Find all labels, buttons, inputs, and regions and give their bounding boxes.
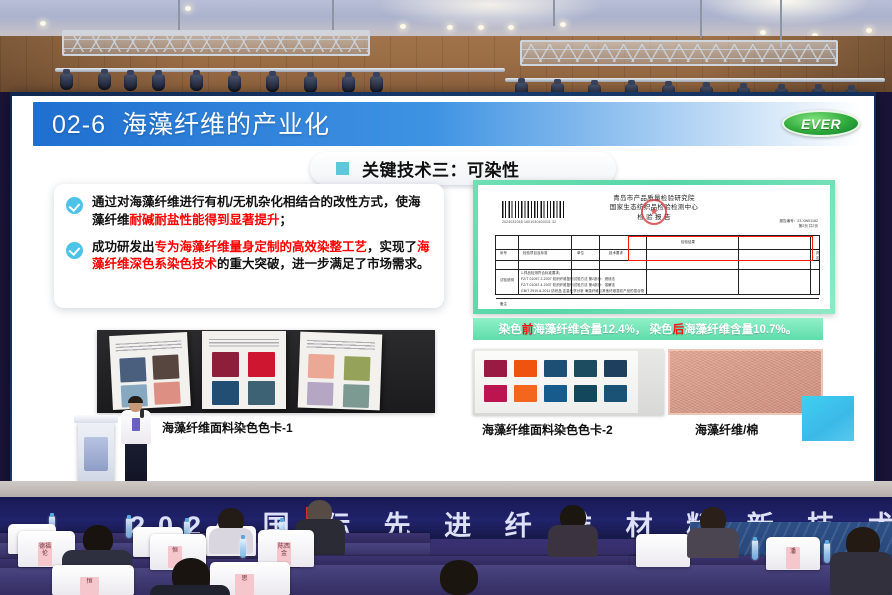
stage-light — [370, 76, 383, 93]
cert-remark-label: 备注 — [500, 302, 507, 307]
name-tag-text: 潘 — [786, 547, 800, 556]
stage-light — [98, 73, 111, 90]
ever-logo: EVER — [782, 110, 860, 137]
fabric-swatch — [668, 349, 823, 415]
color-swatch — [574, 385, 597, 402]
color-card-panel — [202, 331, 286, 409]
lighting-truss-right — [520, 40, 838, 66]
audience-body — [150, 585, 230, 595]
water-bottle — [752, 540, 758, 560]
bullet-text-1: 通过对海藻纤维进行有机/无机杂化相结合的改性方式，使海藻纤维耐碱耐盐性能得到显著… — [92, 194, 432, 230]
bullet-row-2: 成功研发出专为海藻纤维量身定制的高效染整工艺，实现了海藻纤维深色系染色技术的重大… — [66, 239, 432, 275]
speaker-hair — [128, 396, 143, 403]
water-bottle — [240, 538, 246, 558]
certificate-number: 报告编号：23-XW01182 第2页 共2页 — [779, 219, 818, 230]
cert-note-3: GB/T 2910.6-2011 纺织品 定量化学分析 海藻纤维与其他纤维混纺产… — [521, 289, 644, 294]
cert-th-5: 判定 — [816, 251, 820, 262]
cert-th-2: 单位 — [577, 251, 584, 256]
color-swatch — [119, 357, 146, 382]
audience-chair — [636, 534, 690, 567]
truss-drop-rod — [553, 0, 555, 26]
color-card-1-caption: 海藻纤维面料染色色卡-1 — [162, 419, 293, 436]
audience-body — [830, 552, 892, 595]
stage-light — [266, 75, 279, 92]
color-card-panel — [109, 332, 191, 410]
stage-light — [60, 73, 73, 90]
decorative-cyan-square — [802, 396, 854, 441]
name-tag-text: 陈西金 — [277, 542, 291, 557]
light-bar-left — [55, 68, 505, 72]
name-tag: 恒 — [80, 577, 99, 595]
report-no-line-2: 第2页 共2页 — [779, 224, 818, 229]
stage-light — [304, 76, 317, 93]
color-card-2-caption: 海藻纤维面料染色色卡-2 — [482, 421, 613, 438]
color-card-panel — [298, 332, 383, 411]
stage-light — [342, 76, 355, 93]
stage-light — [152, 74, 165, 91]
podium-graphic — [84, 437, 108, 471]
color-swatch — [152, 355, 179, 380]
color-card-2-panel — [475, 351, 638, 413]
podium-top — [74, 415, 118, 423]
microphone-icon — [140, 409, 144, 418]
color-swatch — [212, 352, 239, 377]
fabric-sample-caption: 海藻纤维/棉 — [695, 421, 758, 438]
name-tag-text: 德福伦 — [38, 542, 52, 557]
name-tag-text: 恒 — [168, 546, 182, 555]
color-swatch — [514, 385, 537, 402]
slide-title-text: 海藻纤维的产业化 — [122, 111, 330, 139]
audience-body — [209, 528, 253, 554]
color-swatch — [514, 360, 537, 377]
color-swatch — [604, 385, 627, 402]
key-technology-label: 关键技术三：可染性 — [362, 156, 520, 181]
chandelier — [700, 0, 870, 26]
color-swatch — [544, 360, 567, 377]
name-tag-text: 恒 — [80, 577, 99, 586]
table-skirt — [300, 565, 660, 595]
check-circle-icon — [66, 242, 83, 259]
stage-light — [228, 75, 241, 92]
highlight-red-box — [628, 236, 813, 261]
color-swatch — [604, 360, 627, 377]
certificate-frame: 2024032045 1601030400011 32 青岛市产品质量检验研究院… — [473, 180, 835, 314]
color-swatch — [308, 354, 335, 379]
audience-body — [548, 525, 598, 557]
cert-note-2: FZ/T 01057.4-2007 纺织纤维鉴别试验方法 第4部分：溶解法 — [521, 283, 615, 288]
name-tag: 思 — [235, 574, 254, 595]
cert-note-0: 1.样品检测符合标准要求； — [521, 271, 562, 276]
truss-drop-rod — [332, 0, 334, 30]
cert-th-0: 序号 — [500, 251, 507, 256]
dye-content-text: 染色前海藻纤维含量12.4%， 染色后海藻纤维含量10.7%。 — [499, 321, 797, 337]
stage-light — [124, 74, 137, 91]
color-swatch — [248, 352, 275, 377]
check-circle-icon — [66, 197, 83, 214]
color-swatch — [484, 360, 507, 377]
bullet-card: 通过对海藻纤维进行有机/无机杂化相结合的改性方式，使海藻纤维耐碱耐盐性能得到显著… — [54, 184, 444, 308]
audience-body — [687, 528, 739, 558]
cert-note-1: FZ/T 01057.2-2007 纺织纤维鉴别试验方法 第2部分：燃烧法 — [521, 277, 615, 282]
truss-drop-rod — [178, 0, 180, 30]
bullet-row-1: 通过对海藻纤维进行有机/无机杂化相结合的改性方式，使海藻纤维耐碱耐盐性能得到显著… — [66, 194, 432, 230]
color-swatch — [574, 360, 597, 377]
lighting-truss-left — [62, 30, 370, 56]
inspection-report: 2024032045 1601030400011 32 青岛市产品质量检验研究院… — [478, 185, 830, 309]
name-tag: 德福伦 — [38, 542, 52, 566]
ever-logo-text: EVER — [801, 116, 841, 132]
color-card-1-photo — [97, 330, 435, 413]
cert-th-3: 技术要求 — [609, 251, 623, 256]
conference-photo: 02-6 海藻纤维的产业化 EVER 关键技术三：可染性 通过对海藻纤维进行有机… — [0, 0, 892, 595]
color-card-2-photo — [473, 349, 664, 415]
square-bullet-icon — [336, 162, 349, 175]
slide-section-number: 02-6 — [52, 111, 106, 139]
bullet-text-2: 成功研发出专为海藻纤维量身定制的高效染整工艺，实现了海藻纤维深色系染色技术的重大… — [92, 239, 432, 275]
official-stamp-icon — [641, 199, 667, 225]
podium — [78, 421, 114, 483]
fabric-sample-photo — [668, 349, 823, 415]
color-swatch — [307, 382, 334, 406]
ceiling-glow — [380, 0, 600, 28]
light-bar-right — [505, 78, 885, 82]
name-tag-text: 思 — [235, 574, 254, 583]
name-tag: 潘 — [786, 547, 800, 569]
color-swatch — [212, 381, 239, 405]
water-bottle — [126, 518, 132, 538]
speaker-legs — [125, 442, 147, 483]
truss-drop-rod — [700, 0, 702, 38]
speaker-lanyard — [132, 418, 140, 431]
color-swatch — [248, 381, 275, 405]
audience-head — [440, 560, 478, 595]
color-swatch — [484, 385, 507, 402]
color-swatch — [544, 385, 567, 402]
stage-light — [190, 74, 203, 91]
color-swatch — [343, 384, 370, 408]
color-swatch — [154, 381, 181, 404]
cert-notes-label: 试验说明 — [500, 278, 514, 283]
cert-th-1: 检验项目及标准 — [523, 251, 547, 256]
slide-title: 02-6 海藻纤维的产业化 — [52, 105, 330, 141]
dye-content-highlight-bar: 染色前海藻纤维含量12.4%， 染色后海藻纤维含量10.7%。 — [473, 318, 823, 340]
color-swatch — [344, 356, 371, 381]
